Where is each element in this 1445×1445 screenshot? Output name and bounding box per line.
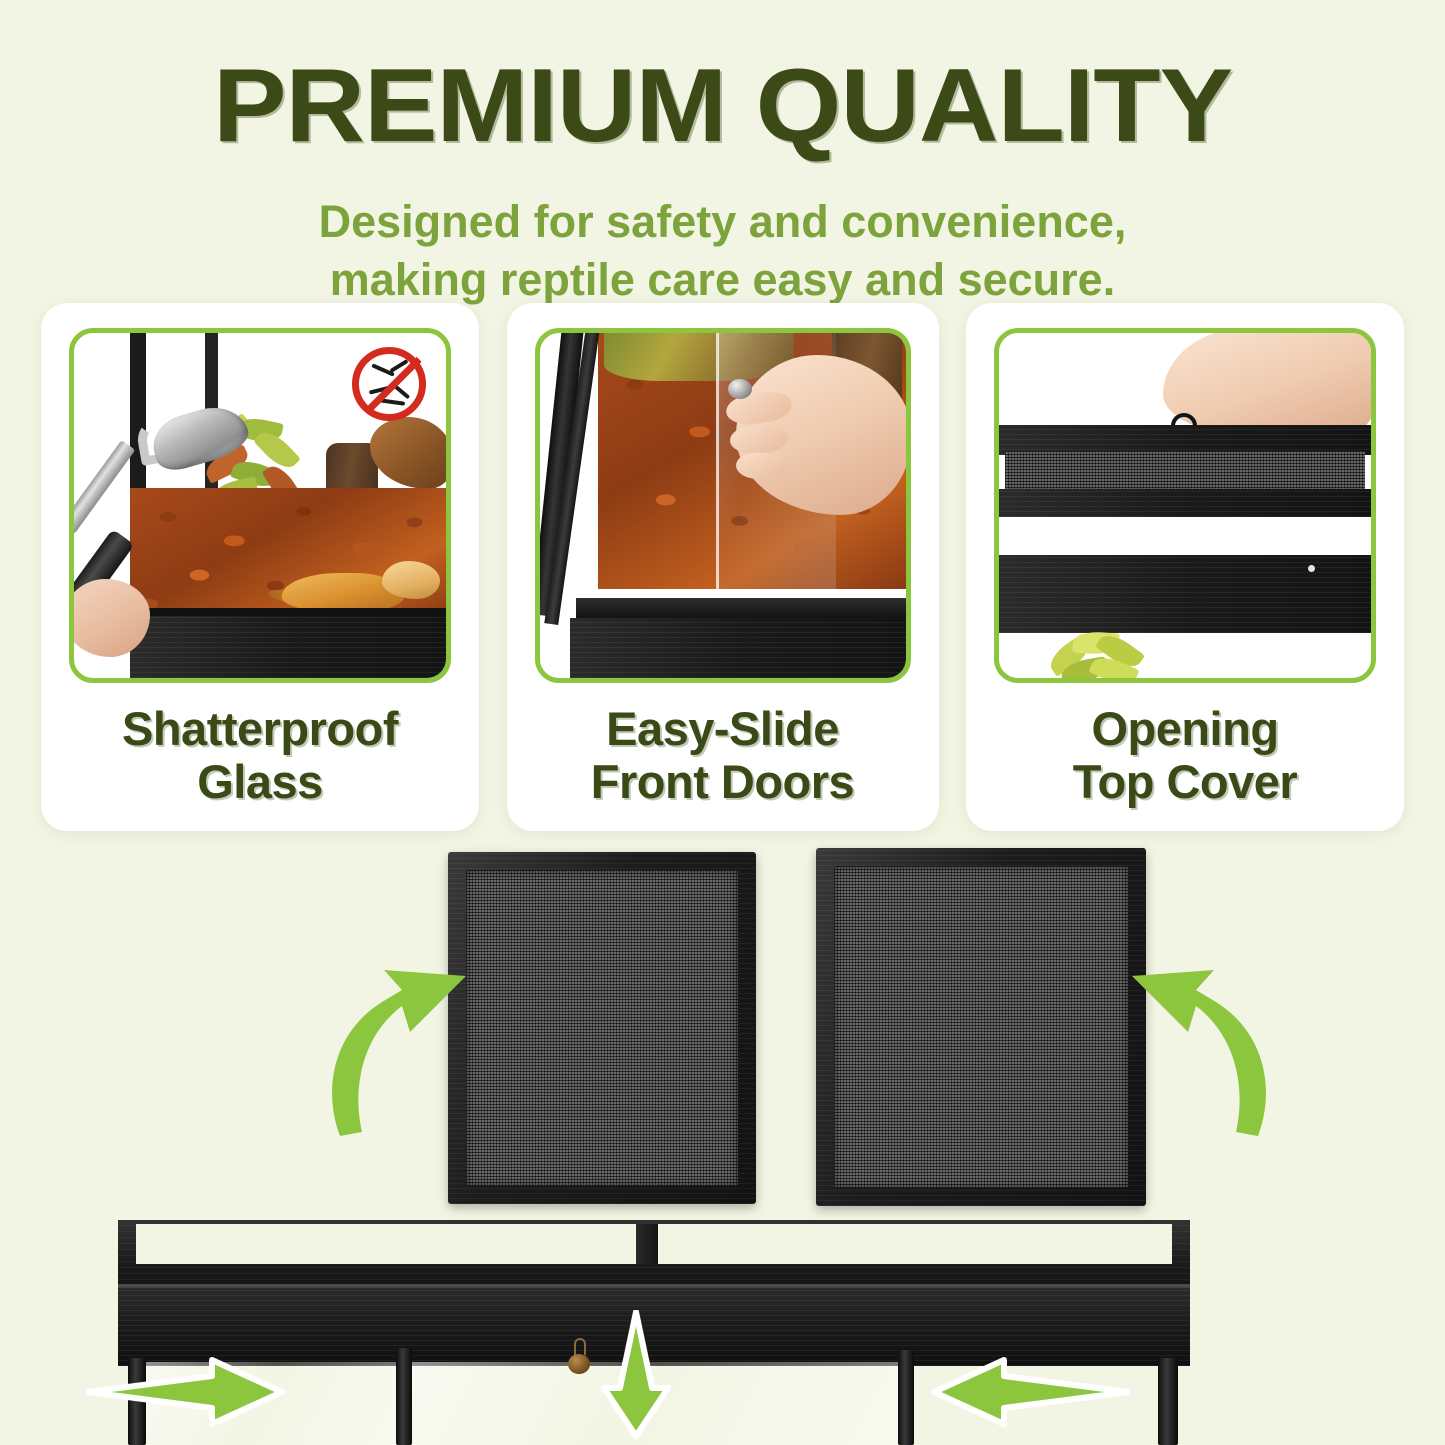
mesh-screen-right [834,866,1128,1188]
feature-card-row: Shatterproof Glass [41,303,1404,831]
feature-card-title: Easy-Slide Front Doors [591,703,854,808]
card-title-line-1: Opening [1073,703,1297,756]
tank-base-frame [130,616,446,678]
glass-door-edge [716,328,719,589]
card-title-line-1: Shatterproof [122,703,398,756]
no-crack-icon [352,347,426,421]
feature-card-easy-slide-front-doors: Easy-Slide Front Doors [507,303,939,831]
card-title-line-2: Front Doors [591,756,854,809]
arrow-top-left-curved [318,940,508,1140]
tank-post-front-right [1158,1358,1178,1445]
page-title: PREMIUM QUALITY [0,54,1445,158]
feature-card-shatterproof-glass: Shatterproof Glass [41,303,479,831]
arrow-bottom-left [86,1356,286,1428]
arrow-bottom-center [600,1310,672,1440]
arrow-bottom-right [930,1356,1130,1428]
page-subtitle: Designed for safety and convenience, mak… [0,193,1445,308]
card-title-line-1: Easy-Slide [591,703,854,756]
tank-center-divider [636,1224,658,1264]
tank-post-mid-right [898,1350,914,1445]
mesh-screen-panel [1005,451,1365,491]
decor-plant [1043,626,1155,682]
tank-band-highlight [118,1284,1190,1288]
product-feature-page: PREMIUM QUALITY Designed for safety and … [0,0,1445,1445]
subtitle-line-2: making reptile care easy and secure. [0,251,1445,309]
easy-slide-doors-photo [535,328,911,683]
subtitle-line-1: Designed for safety and convenience, [0,193,1445,251]
tank-post-mid-left [396,1348,412,1445]
feature-card-title: Opening Top Cover [1073,703,1297,808]
door-pull-knob[interactable] [728,379,752,399]
top-cover-back-edge [999,489,1371,517]
door-knob-wire [574,1338,586,1355]
decor-driftwood-branch [370,417,451,489]
feature-card-title: Shatterproof Glass [122,703,398,808]
tank-base-frame [570,618,906,678]
rail-highlight-dot [1308,565,1315,572]
card-title-line-2: Top Cover [1073,756,1297,809]
shatterproof-glass-photo [69,328,451,683]
door-slide-rail [576,598,906,620]
hammer-shaft [69,440,135,534]
product-hero-image [0,838,1445,1445]
opening-top-cover-photo [994,328,1376,683]
tank-upper-rail [999,555,1371,633]
arrow-top-right-curved [1090,940,1280,1140]
feature-card-opening-top-cover: Opening Top Cover [966,303,1404,831]
front-door-knob[interactable] [568,1354,590,1374]
card-title-line-2: Glass [122,756,398,809]
